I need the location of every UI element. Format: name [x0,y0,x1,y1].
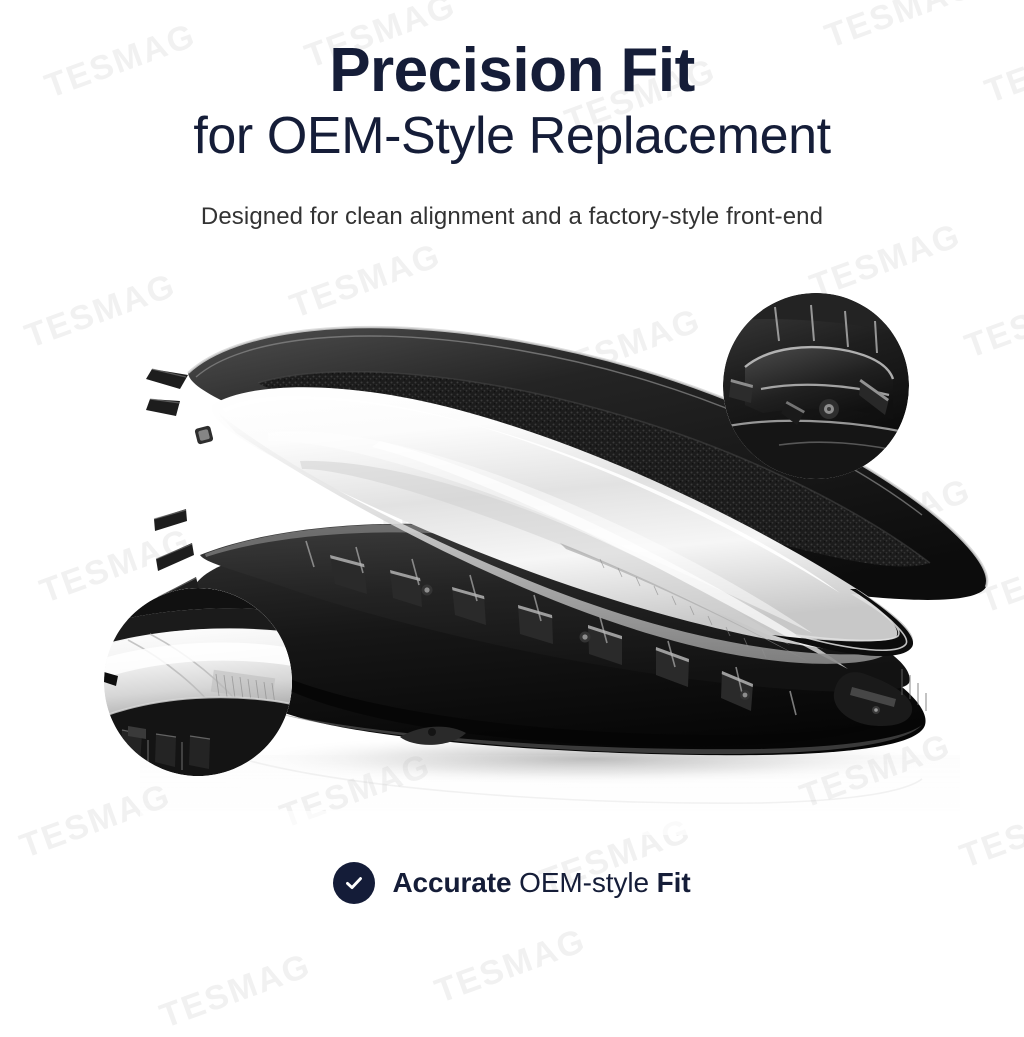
badge-label: Accurate OEM-style Fit [392,867,690,899]
lens-clarity-zoom-image [104,588,292,776]
feature-badge: Accurate OEM-style Fit [0,862,1024,904]
page-subtitle: Designed for clean alignment and a facto… [0,203,1024,231]
left-connector [194,425,213,444]
badge-word-fit: Fit [657,867,691,898]
page-title-primary: Precision Fit [0,38,1024,103]
reflection-fade [140,811,970,835]
bottom-notch-hole [428,728,436,736]
badge-word-accurate: Accurate [392,867,511,898]
watermark-text: TESMAG [430,921,591,1012]
header: Precision Fit for OEM-Style Replacement … [0,0,1024,231]
page-title-secondary: for OEM-Style Replacement [0,107,1024,165]
check-circle-icon [333,862,375,904]
callout-mounting-bracket-detail[interactable] [723,293,909,479]
badge-word-oem-style: OEM-style [519,867,649,898]
watermark-text: TESMAG [155,946,316,1037]
callout-lens-clarity-detail[interactable] [104,588,292,776]
mounting-bracket-zoom-image [723,293,909,479]
